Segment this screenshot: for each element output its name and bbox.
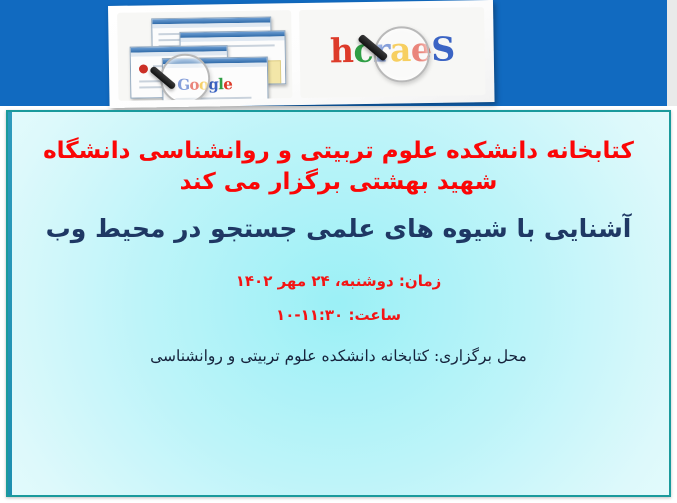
banner-search-word-pane: Search — [299, 7, 485, 98]
search-letter-h: h — [330, 34, 354, 67]
organizer-headline: کتابخانه دانشکده علوم تربیتی و روانشناسی… — [26, 136, 651, 197]
poster-content-panel: کتابخانه دانشکده علوم تربیتی و روانشناسی… — [6, 110, 671, 497]
header-banner-image: Search — [108, 0, 495, 108]
banner-browser-stack-pane: Google — [117, 10, 292, 101]
search-letter-s: S — [431, 32, 455, 65]
event-title: آشنایی با شیوه های علمی جستجو در محیط وب — [26, 213, 651, 246]
event-date-line: زمان: دوشنبه، ۲۴ مهر ۱۴۰۲ — [26, 270, 651, 293]
header-right-gap — [667, 0, 677, 106]
event-poster: Search — [0, 0, 677, 503]
event-venue-line: محل برگزاری: کتابخانه دانشکده علوم تربیت… — [26, 345, 651, 368]
event-time-line: ساعت: ۱۱:۳۰-۱۰ — [26, 304, 651, 327]
